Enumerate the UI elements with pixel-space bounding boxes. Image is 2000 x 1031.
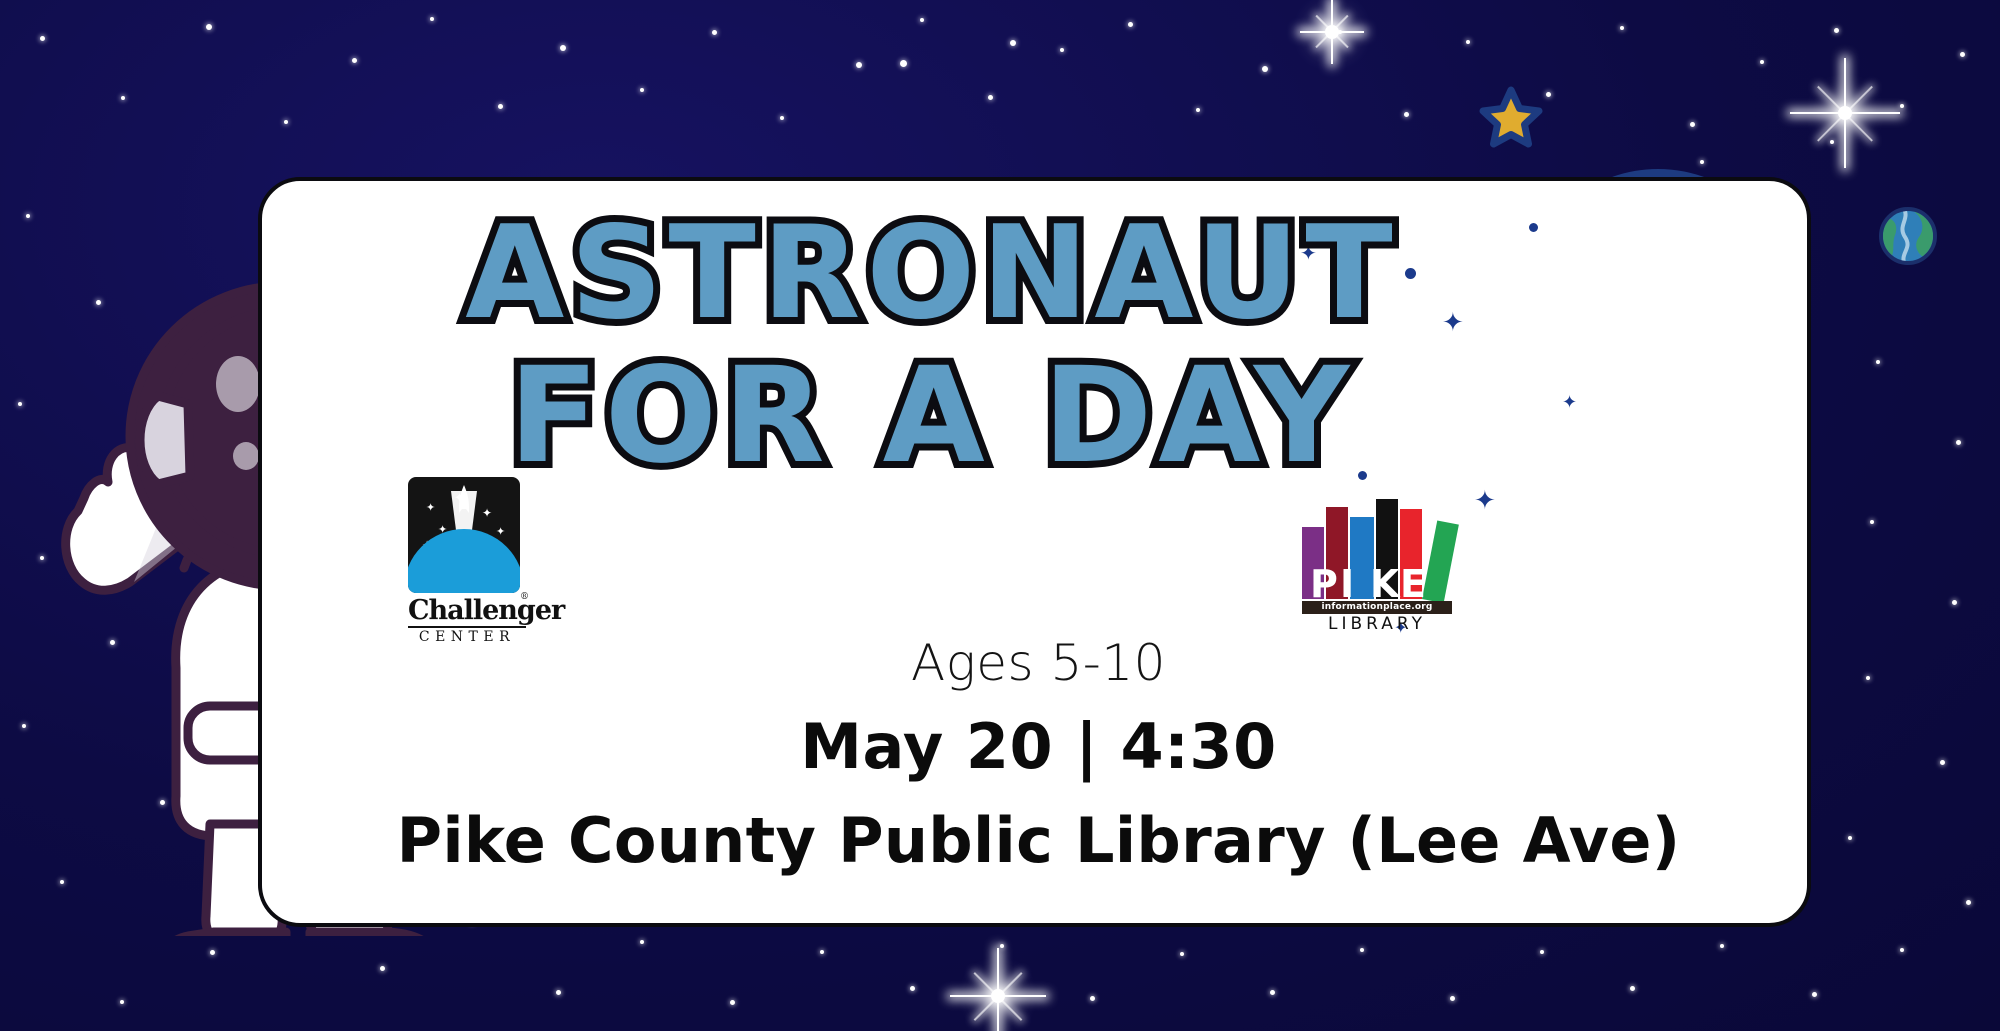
background-star	[640, 940, 644, 944]
background-star	[1760, 60, 1764, 64]
background-star	[1180, 952, 1184, 956]
background-star	[1540, 950, 1544, 954]
book-spines-art: PIKE	[1302, 499, 1452, 599]
challenger-word-text: Challenger	[408, 595, 564, 626]
background-star	[1834, 28, 1839, 33]
background-star	[1010, 40, 1016, 46]
background-star	[120, 1000, 124, 1004]
background-star	[1876, 360, 1880, 364]
pike-library-subtitle: LIBRARY	[1302, 616, 1452, 633]
venue-line: Pike County Public Library (Lee Ave)	[262, 807, 1811, 875]
background-star	[210, 950, 215, 955]
background-star	[1262, 66, 1268, 72]
pike-url-bar: informationplace.org	[1302, 601, 1452, 614]
background-star	[1848, 836, 1852, 840]
background-star	[22, 724, 26, 728]
headline-line-2: FOR A DAY	[432, 352, 1432, 481]
background-star	[498, 104, 503, 109]
sparkle-icon: ✦	[1562, 393, 1577, 411]
glow-star-icon	[1790, 58, 1900, 168]
pike-url-text: informationplace.org	[1302, 602, 1452, 612]
background-star	[1900, 104, 1904, 108]
background-star	[1128, 22, 1133, 27]
background-star	[1270, 990, 1275, 995]
decorative-dot	[1529, 223, 1538, 232]
challenger-star-icon: ✦	[496, 527, 505, 538]
sparkle-icon: ✦	[1300, 244, 1317, 264]
space-shuttle-icon	[455, 485, 473, 515]
background-star	[820, 950, 824, 954]
background-star	[40, 36, 45, 41]
background-star	[380, 966, 385, 971]
background-star	[1870, 520, 1874, 524]
glow-star-icon	[950, 948, 1046, 1031]
background-star	[1090, 996, 1095, 1001]
background-star	[1966, 900, 1971, 905]
registered-mark-icon: ®	[520, 593, 528, 602]
pike-letter: K	[1370, 565, 1399, 603]
background-star	[1812, 992, 1817, 997]
background-star	[1720, 944, 1724, 948]
background-star	[988, 95, 993, 100]
sparkle-icon: ✦	[1474, 487, 1496, 513]
background-star	[1450, 996, 1455, 1001]
sparkle-icon: ✦	[1442, 309, 1464, 335]
pike-letter: I	[1340, 565, 1354, 603]
pike-letter: P	[1310, 565, 1338, 603]
decorative-dot	[1299, 427, 1307, 435]
challenger-star-icon: ✦	[426, 503, 435, 514]
challenger-center-logo: ✦✦✦✦✦✦✦ Challenger® CENTER	[408, 477, 526, 644]
background-star	[18, 402, 22, 406]
pike-letter: E	[1400, 565, 1426, 603]
datetime-line: May 20 | 4:30	[262, 713, 1811, 781]
background-star	[856, 62, 862, 68]
background-star	[352, 58, 357, 63]
background-star	[1620, 26, 1624, 30]
background-star	[1360, 948, 1364, 952]
headline-line-1: ASTRONAUT	[432, 211, 1432, 336]
background-star	[640, 88, 644, 92]
background-star	[556, 990, 561, 995]
event-details: Ages 5-10 May 20 | 4:30 Pike County Publ…	[262, 636, 1811, 875]
gold-star-icon	[1479, 85, 1543, 149]
challenger-badge-art: ✦✦✦✦✦✦✦	[408, 477, 520, 593]
background-star	[1952, 600, 1957, 605]
ages-line: Ages 5-10	[262, 636, 1811, 691]
background-star	[1546, 92, 1551, 97]
background-star	[121, 96, 125, 100]
glow-star-icon	[1300, 0, 1364, 64]
background-star	[284, 120, 288, 124]
background-star	[1630, 986, 1635, 991]
background-star	[900, 60, 907, 67]
background-star	[1466, 40, 1470, 44]
pike-library-logo: PIKE informationplace.org LIBRARY	[1302, 499, 1452, 633]
headline: ASTRONAUT FOR A DAY	[432, 211, 1432, 482]
background-star	[430, 17, 434, 21]
background-star	[26, 214, 30, 218]
background-star	[1940, 760, 1945, 765]
background-star	[920, 18, 924, 22]
background-star	[780, 116, 784, 120]
background-star	[1700, 160, 1704, 164]
challenger-star-icon: ✦	[482, 507, 492, 519]
background-star	[1900, 948, 1904, 952]
pike-wordmark: PIKE	[1310, 563, 1440, 603]
background-star	[1060, 48, 1064, 52]
earth-icon	[1879, 207, 1937, 265]
decorative-dot	[1358, 471, 1367, 480]
background-star	[910, 986, 915, 991]
background-star	[1404, 112, 1409, 117]
background-star	[1690, 122, 1695, 127]
challenger-rule	[408, 626, 526, 628]
background-star	[560, 45, 566, 51]
background-star	[1960, 52, 1965, 57]
decorative-dot	[1405, 268, 1416, 279]
background-star	[730, 1000, 735, 1005]
challenger-wordmark: Challenger®	[408, 597, 526, 624]
background-star	[206, 24, 212, 30]
poster-canvas: ✦✦✦✦✦ ASTRONAUT FOR A DAY ✦✦✦✦✦✦✦ Challe…	[0, 0, 2000, 1031]
background-star	[712, 30, 717, 35]
background-star	[1196, 108, 1200, 112]
background-star	[1866, 676, 1870, 680]
event-card: ✦✦✦✦✦ ASTRONAUT FOR A DAY ✦✦✦✦✦✦✦ Challe…	[258, 177, 1811, 927]
background-star	[1956, 440, 1961, 445]
